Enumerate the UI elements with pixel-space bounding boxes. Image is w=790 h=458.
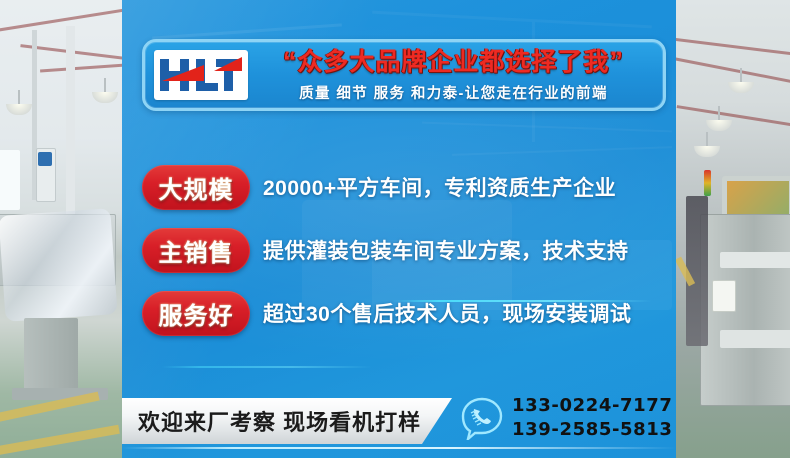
promo-banner-image: “众多大品牌企业都选择了我” 质量 细节 服务 和力泰-让您走在行业的前端 大规… [0, 0, 790, 458]
feature-badge-label: 主销售 [159, 233, 234, 268]
signal-tower [704, 170, 711, 196]
footer-slogan-band: 欢迎来厂考察 现场看机打样 [122, 398, 452, 444]
feature-badge-service: 服务好 [142, 291, 250, 336]
wrapped-equipment [0, 208, 118, 322]
phone-number: 139-2585-5813 [512, 418, 673, 442]
machine-panel [38, 152, 52, 166]
factory-photo-left [0, 0, 124, 458]
doc-tag [712, 280, 736, 312]
banner-headline: “众多大品牌企业都选择了我” [283, 47, 624, 76]
footer-slogan: 欢迎来厂考察 现场看机打样 [138, 405, 421, 437]
banner-text-block: “众多大品牌企业都选择了我” 质量 细节 服务 和力泰-让您走在行业的前端 [248, 47, 663, 102]
open-quote: “ [283, 46, 298, 76]
accent-line [162, 366, 372, 368]
feature-badge-scale: 大规模 [142, 165, 250, 210]
feature-badge-label: 服务好 [159, 296, 234, 331]
feature-text: 提供灌装包装车间专业方案，技术支持 [263, 235, 629, 265]
header-banner: “众多大品牌企业都选择了我” 质量 细节 服务 和力泰-让您走在行业的前端 [142, 39, 666, 111]
feature-badge-label: 大规模 [159, 170, 234, 205]
feature-text: 超过30个售后技术人员，现场安装调试 [263, 298, 631, 328]
feature-row: 主销售 提供灌装包装车间专业方案，技术支持 [142, 223, 672, 277]
hlt-logo-mark [158, 55, 244, 95]
banner-headline-text: 众多大品牌企业都选择了我 [297, 48, 609, 76]
footer-accent-line [122, 447, 676, 449]
phone-number-list: 133-0224-7177 139-2585-5813 [512, 394, 673, 442]
nozzle-row [720, 252, 790, 268]
feature-row: 服务好 超过30个售后技术人员，现场安装调试 [142, 286, 672, 340]
close-quote: ” [610, 46, 625, 76]
phone-number: 133-0224-7177 [512, 394, 673, 418]
cable-bundle [686, 196, 708, 346]
feature-badge-sales: 主销售 [142, 228, 250, 273]
wall-pipe [66, 26, 75, 226]
banner-subline: 质量 细节 服务 和力泰-让您走在行业的前端 [299, 82, 608, 103]
feature-row: 大规模 20000+平方车间，专利资质生产企业 [142, 160, 672, 214]
window-light [0, 150, 20, 210]
footer-contact: 133-0224-7177 139-2585-5813 [460, 394, 673, 442]
footer-bar: 欢迎来厂考察 现场看机打样 133-0224-7177 139-2585-581… [122, 398, 676, 444]
phone-bubble-icon [460, 396, 504, 440]
feature-text: 20000+平方车间，专利资质生产企业 [263, 172, 616, 202]
factory-photo-right [676, 0, 790, 458]
feature-list: 大规模 20000+平方车间，专利资质生产企业 主销售 提供灌装包装车间专业方案… [142, 160, 672, 349]
hlt-logo [154, 50, 248, 100]
nozzle-row [720, 330, 790, 348]
equipment-base [24, 318, 78, 390]
